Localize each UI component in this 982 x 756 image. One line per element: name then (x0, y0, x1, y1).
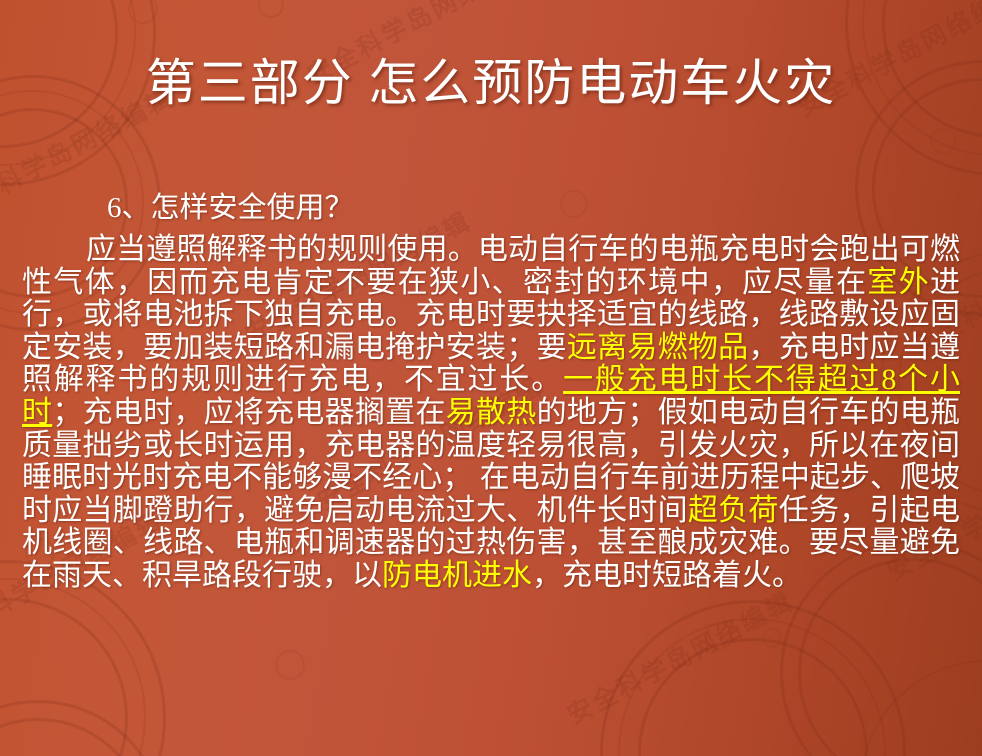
presentation-slide: 安全科学岛网络编辑 安全科学岛网络编辑 安全科学岛网络编辑 安全科学岛网络编辑 … (0, 0, 982, 756)
circle-decoration (705, 622, 733, 650)
arc-decoration (0, 718, 148, 756)
slide-title: 第三部分 怎么预防电动车火灾 (0, 52, 982, 114)
arc-decoration (860, 660, 982, 756)
section-subheading: 6、怎样安全使用？ (22, 186, 960, 230)
arc-decoration (638, 638, 868, 756)
body-text-run: 应当遵照解释书的规则使用。电动自行车的电瓶充电时会跑出可燃性气体，因而充电肯定不… (22, 233, 960, 299)
circle-decoration (930, 128, 956, 154)
body-text-run: ；充电时，应将充电器搁置在 (52, 396, 445, 429)
highlighted-text: 远离易燃物品 (567, 331, 749, 364)
arc-decoration (0, 700, 166, 756)
body-paragraph: 应当遵照解释书的规则使用。电动自行车的电瓶充电时会跑出可燃性气体，因而充电肯定不… (22, 234, 960, 593)
arc-decoration (0, 578, 146, 756)
watermark-text: 安全科学岛网络编辑 (560, 582, 799, 732)
circle-decoration (762, 628, 782, 648)
arc-decoration (618, 618, 886, 756)
circle-decoration (128, 0, 158, 24)
arc-decoration (0, 598, 128, 756)
arc-decoration (600, 600, 906, 756)
highlighted-text: 易散热 (446, 396, 537, 429)
body-text-run: ，充电时短路着火。 (532, 559, 802, 592)
highlighted-text: 室外 (867, 266, 930, 299)
highlighted-text: 防电机进水 (382, 559, 532, 592)
circle-decoration (275, 650, 305, 680)
circle-decoration (258, 0, 284, 18)
highlighted-text: 超负荷 (688, 494, 779, 527)
slide-body: 6、怎样安全使用？ 应当遵照解释书的规则使用。电动自行车的电瓶充电时会跑出可燃性… (22, 186, 960, 593)
